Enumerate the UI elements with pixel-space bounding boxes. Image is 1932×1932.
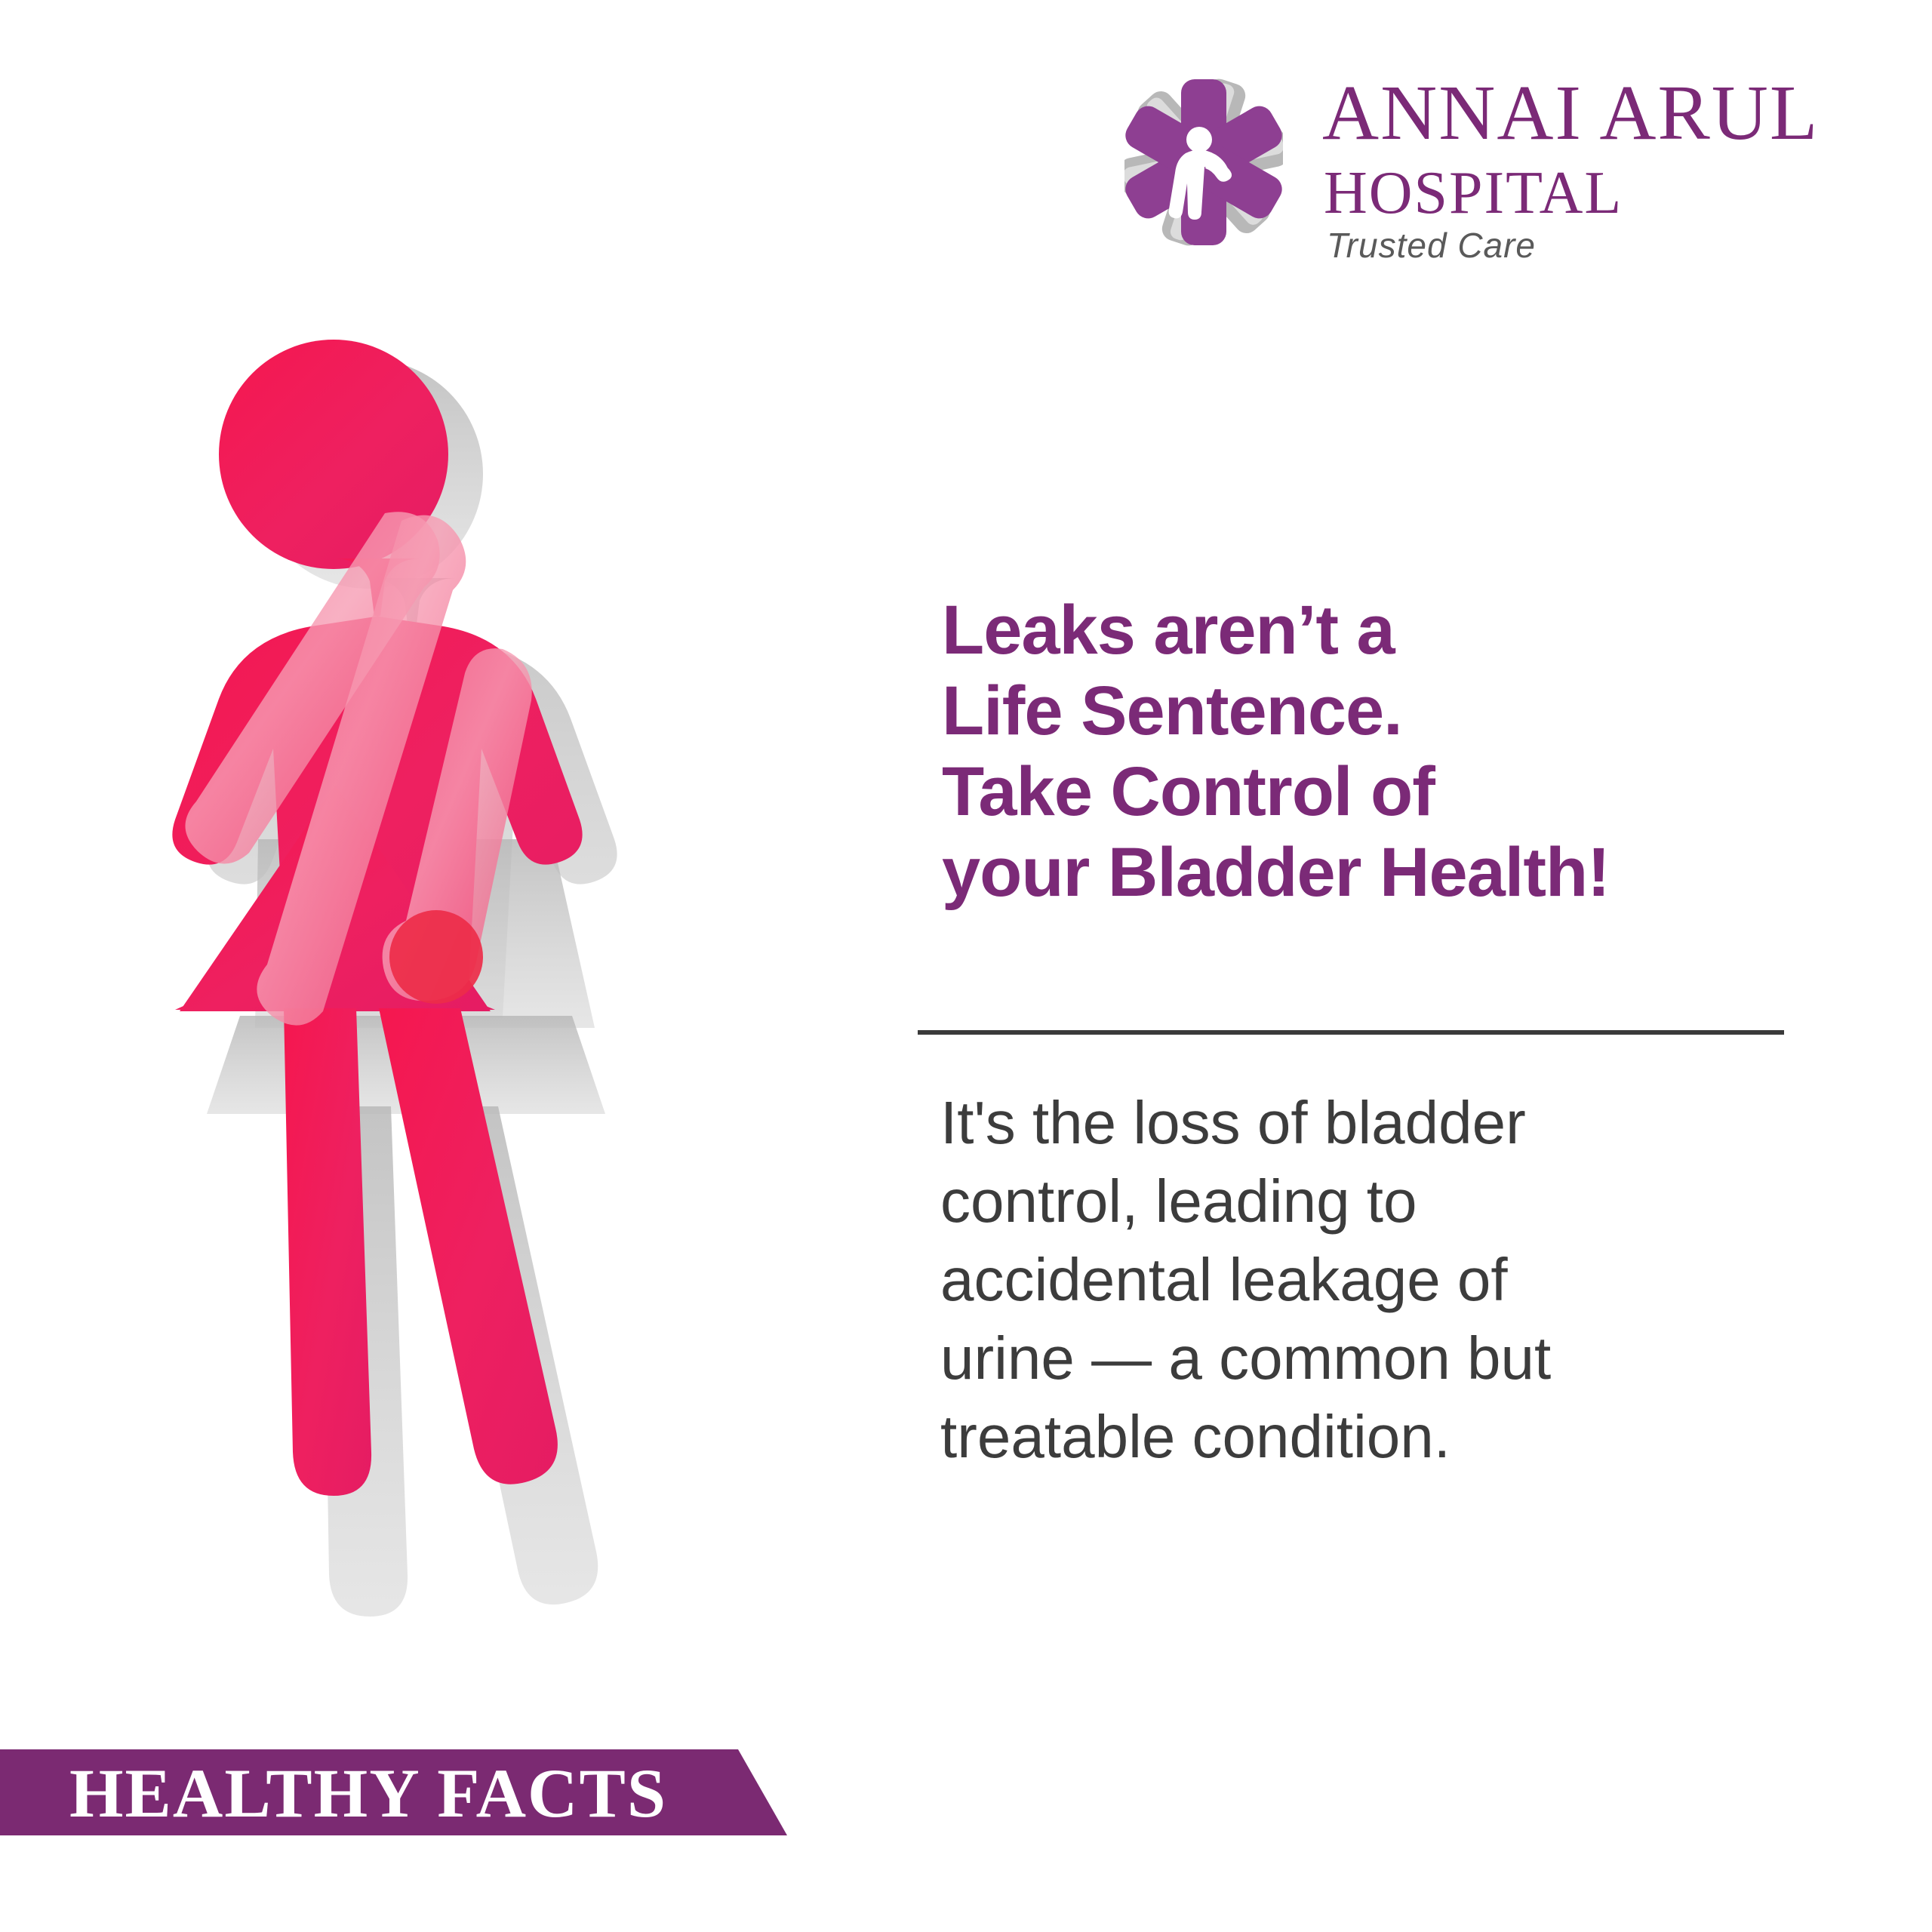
banner-label: HEALTHY FACTS xyxy=(69,1755,667,1831)
woman-holding-bladder-pictogram xyxy=(136,332,770,1743)
headline-line-1: Leaks aren’t a xyxy=(942,590,1832,671)
logo-name-line2: HOSPITAL xyxy=(1324,163,1623,223)
body-copy: It's the loss of bladder control, leadin… xyxy=(940,1084,1846,1476)
headline: Leaks aren’t a Life Sentence. Take Contr… xyxy=(942,590,1832,913)
logo-name-line1: ANNAI ARUL xyxy=(1322,74,1819,152)
headline-line-4: your Bladder Health! xyxy=(942,832,1832,913)
headline-line-2: Life Sentence. xyxy=(942,671,1832,752)
poster-canvas: ANNAI ARUL HOSPITAL Trusted Care xyxy=(0,0,1932,1932)
star-of-life-icon xyxy=(1124,75,1283,249)
divider-rule xyxy=(918,1030,1784,1035)
healthy-facts-banner: HEALTHY FACTS xyxy=(0,1749,845,1835)
logo-tagline: Trusted Care xyxy=(1327,228,1536,263)
headline-line-3: Take Control of xyxy=(942,752,1832,832)
body-line-5: treatable condition. xyxy=(940,1398,1846,1476)
body-line-1: It's the loss of bladder xyxy=(940,1084,1846,1162)
body-line-4: urine — a common but xyxy=(940,1319,1846,1398)
body-line-2: control, leading to xyxy=(940,1162,1846,1241)
hospital-logo: ANNAI ARUL HOSPITAL Trusted Care xyxy=(1124,68,1902,272)
logo-wordmark: ANNAI ARUL HOSPITAL Trusted Care xyxy=(1322,68,1903,264)
body-line-3: accidental leakage of xyxy=(940,1241,1846,1319)
